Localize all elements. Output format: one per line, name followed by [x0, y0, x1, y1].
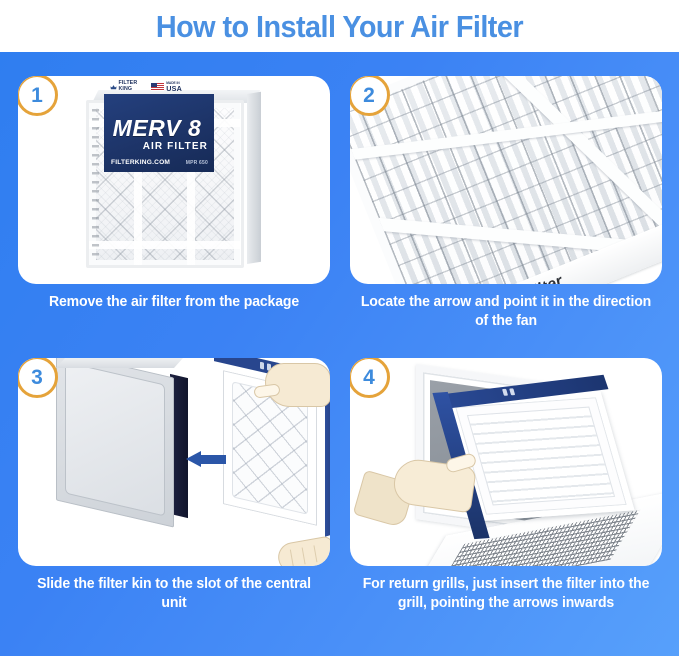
step-4-image-card: 4: [350, 358, 662, 566]
merv-rating-text: MERV 8: [104, 117, 210, 140]
central-unit-slot: [56, 358, 174, 528]
filter-king-logo: FILTER KING: [110, 81, 137, 92]
step-card-4: 4 For return grills, just insert the fil…: [350, 358, 662, 612]
step-card-1: FILTER KING MADE IN USA: [18, 76, 330, 312]
step-number-3: 3: [31, 367, 43, 388]
filter-arrow-marks-icon: [502, 388, 515, 396]
finger-line: [290, 550, 294, 566]
step-number-4: 4: [363, 367, 375, 388]
arrow-mark: [260, 362, 264, 370]
finger-line: [302, 547, 306, 564]
brand-website-text: FILTERKING.COM: [111, 159, 170, 166]
finger-line: [313, 545, 317, 562]
arrow-head: [186, 451, 201, 467]
label-footer-row: FILTERKING.COM MPR 650: [111, 159, 208, 166]
page-title: How to Install Your Air Filter: [156, 11, 523, 42]
header-band: How to Install Your Air Filter: [0, 0, 679, 52]
crown-icon: [110, 84, 117, 91]
step-1-image-card: FILTER KING MADE IN USA: [18, 76, 330, 284]
arrow-mark: [502, 389, 508, 396]
mpr-rating-text: MPR 650: [186, 160, 208, 166]
infographic-root: How to Install Your Air Filter: [0, 0, 679, 656]
step-number-2: 2: [363, 85, 375, 106]
filter-box-side-face: [247, 92, 261, 264]
hand-bottom: [276, 535, 330, 566]
central-unit-top: [56, 358, 186, 368]
step-4-artwork: [350, 358, 662, 566]
step-3-image-card: 3: [18, 358, 330, 566]
step-caption-1: Remove the air filter from the package: [23, 293, 326, 312]
filter-support-bar-bottom: [89, 241, 241, 249]
grill-door: [447, 391, 634, 521]
slide-direction-arrow-icon: [186, 451, 226, 465]
step-number-1: 1: [31, 85, 43, 106]
made-in-usa-badge: MADE IN USA: [151, 82, 182, 92]
step-2-artwork: AIRFLOW Air Filter AIRFLOW: [350, 76, 662, 284]
arrow-shaft: [200, 455, 226, 464]
merv8-product-label: FILTER KING MADE IN USA: [104, 94, 214, 172]
step-card-3: 3 Slide the filter kin to the slot of th…: [18, 358, 330, 612]
step-card-2: AIRFLOW Air Filter AIRFLOW 2 Locate the …: [350, 76, 662, 330]
filter-corner-illustration: AIRFLOW Air Filter AIRFLOW: [350, 76, 662, 284]
step-caption-4: For return grills, just insert the filte…: [355, 575, 658, 612]
brand-name-lines: FILTER KING: [119, 81, 138, 92]
country-label: USA: [166, 85, 182, 92]
product-type-text: AIR FILTER: [104, 141, 208, 152]
brand-line-2: KING: [119, 86, 133, 92]
step-1-artwork: FILTER KING MADE IN USA: [18, 76, 330, 284]
made-in-usa-text: MADE IN USA: [166, 82, 182, 92]
step-3-artwork: [18, 358, 330, 566]
filter-perforated-edge: [92, 109, 99, 259]
central-unit-slot-inner: [65, 361, 165, 516]
label-brand-row: FILTER KING MADE IN USA: [110, 81, 214, 93]
step-caption-2: Locate the arrow and point it in the dir…: [355, 293, 658, 330]
grill-louvers: [467, 407, 615, 506]
step-caption-3: Slide the filter kin to the slot of the …: [23, 575, 326, 612]
steps-grid: FILTER KING MADE IN USA: [0, 52, 679, 656]
step-2-image-card: AIRFLOW Air Filter AIRFLOW 2: [350, 76, 662, 284]
merv8-filter-box-illustration: FILTER KING MADE IN USA: [86, 90, 261, 270]
usa-flag-icon: [151, 83, 164, 91]
